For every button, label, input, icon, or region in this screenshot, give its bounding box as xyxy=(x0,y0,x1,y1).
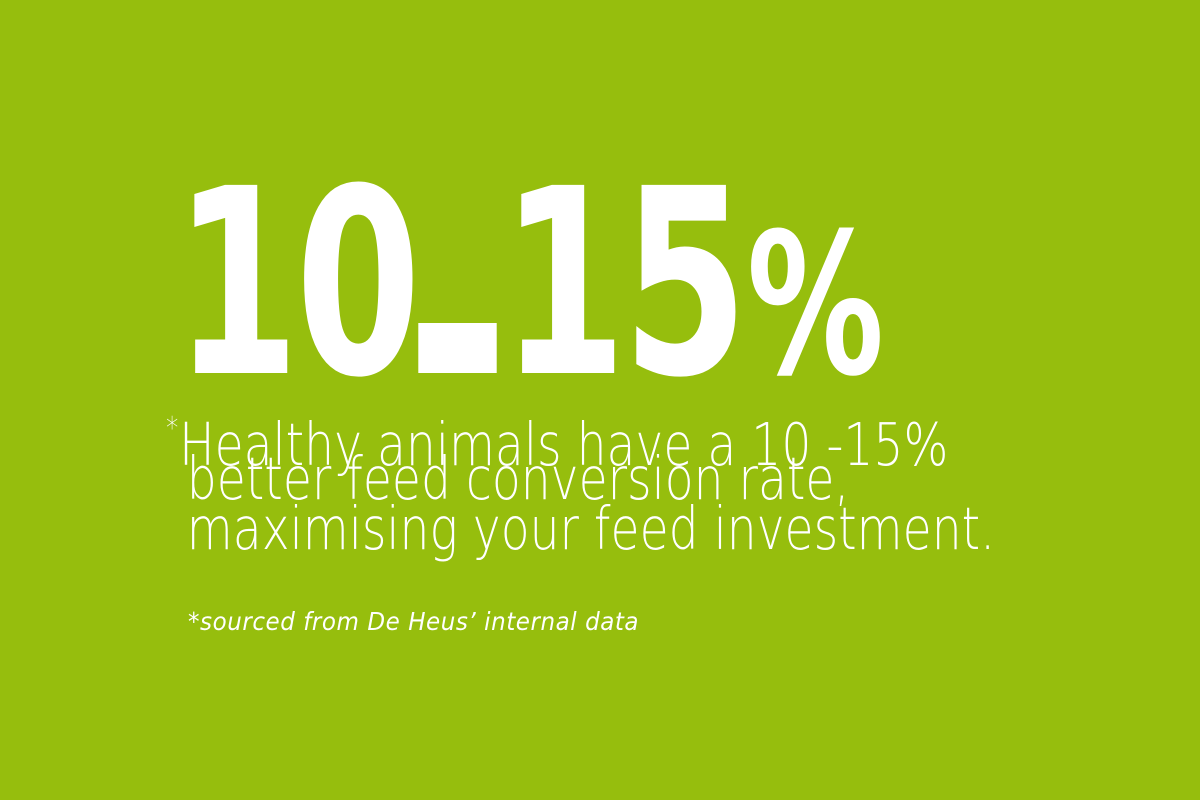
headline-range-start: 10 xyxy=(174,134,417,434)
headline-statistic: 10-15% xyxy=(174,155,881,413)
headline-range-end: 15 xyxy=(501,134,744,434)
footnote-source: *sourced from De Heus’ internal data xyxy=(188,608,639,636)
headline-dash: - xyxy=(418,323,496,373)
statistic-card: 10-15% *Healthy animals have a 10 -15% b… xyxy=(0,0,1200,800)
asterisk-icon: * xyxy=(166,404,178,454)
body-line-3: maximising your feed investment. xyxy=(187,504,995,554)
body-copy: *Healthy animals have a 10 -15% better f… xyxy=(166,404,995,554)
headline-percent-symbol: % xyxy=(747,208,882,404)
